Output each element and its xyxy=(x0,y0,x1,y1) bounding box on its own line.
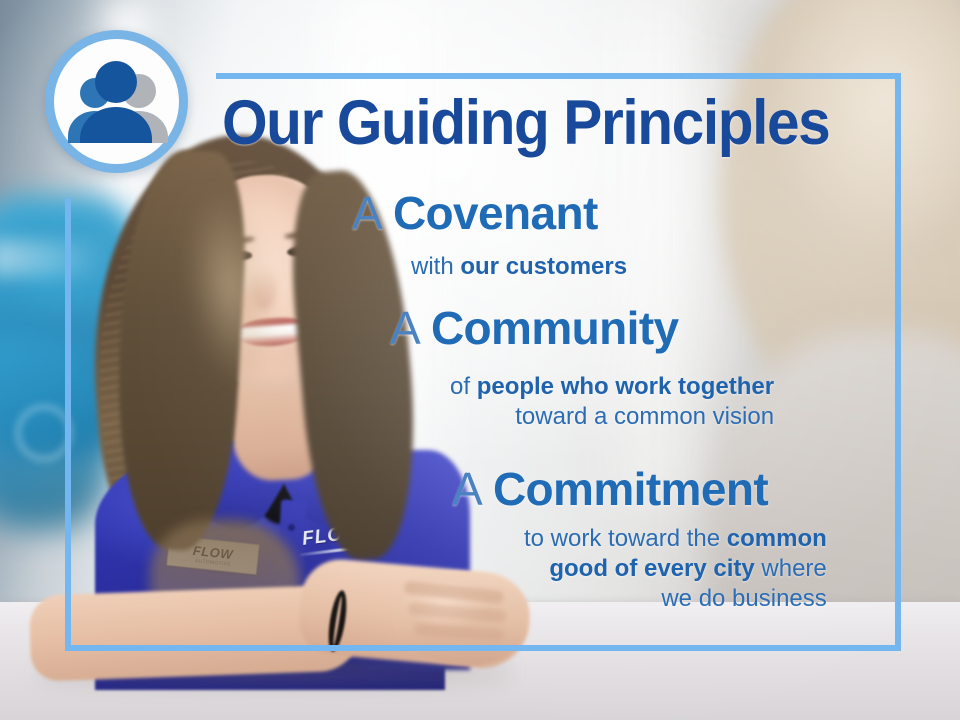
principle-word-commitment: Commitment xyxy=(493,463,768,515)
principle-heading-covenant: A Covenant xyxy=(352,190,598,236)
principle-article-community: A xyxy=(390,302,418,354)
subtext-part-bold: good of every city xyxy=(549,555,754,582)
subtext-line: good of every city where xyxy=(524,554,827,584)
subtext-part: of xyxy=(450,373,477,400)
guiding-principles-graphic: FLOW AUTOMOTIVE FLOW xyxy=(0,0,960,720)
principle-word-community: Community xyxy=(431,302,679,354)
subtext-line: of people who work together xyxy=(450,372,774,402)
principle-subtext-covenant: with our customers xyxy=(411,252,627,282)
subtext-line: to work toward the common xyxy=(524,524,827,554)
principle-heading-community: A Community xyxy=(390,305,679,351)
subtext-part: to work toward the xyxy=(524,525,727,552)
principles-list: A Covenant with our customers A Communit… xyxy=(0,0,960,720)
subtext-part-bold: people who work together xyxy=(477,373,774,400)
principle-subtext-community: of people who work together toward a com… xyxy=(450,372,774,432)
subtext-part-bold: our customers xyxy=(460,253,627,280)
principle-word-covenant: Covenant xyxy=(393,187,598,239)
subtext-part: where xyxy=(755,555,827,582)
subtext-part-bold: common xyxy=(727,525,827,552)
principle-subtext-commitment: to work toward the common good of every … xyxy=(524,524,827,614)
subtext-part: with xyxy=(411,253,460,280)
subtext-line: toward a common vision xyxy=(450,402,774,432)
subtext-line: we do business xyxy=(524,584,827,614)
principle-heading-commitment: A Commitment xyxy=(452,466,768,512)
principle-article-commitment: A xyxy=(452,463,480,515)
principle-article-covenant: A xyxy=(352,187,380,239)
subtext-line: with our customers xyxy=(411,252,627,282)
